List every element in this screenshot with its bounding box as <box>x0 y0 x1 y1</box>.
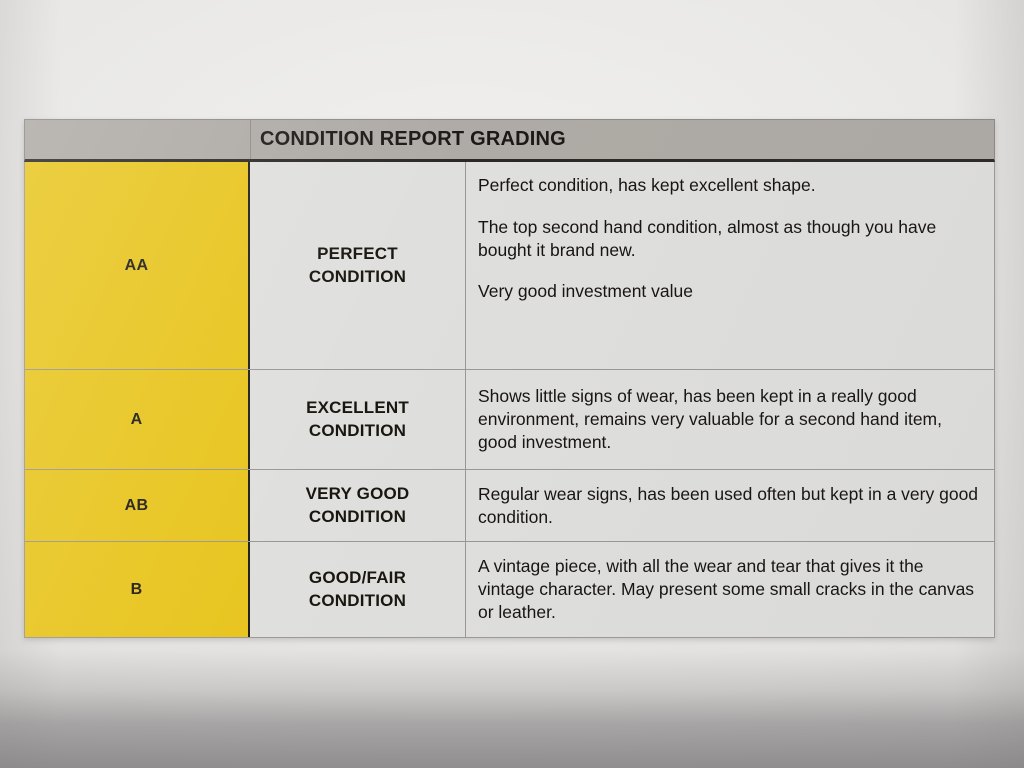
table-row: AB VERY GOOD CONDITION Regular wear sign… <box>25 470 994 542</box>
condition-report-grading-table: CONDITION REPORT GRADING AA PERFECT COND… <box>24 119 995 638</box>
table-row: A EXCELLENT CONDITION Shows little signs… <box>25 370 994 470</box>
page-title: CONDITION REPORT GRADING <box>260 128 566 151</box>
description-paragraph: The top second hand condition, almost as… <box>478 216 980 262</box>
table-row: B GOOD/FAIR CONDITION A vintage piece, w… <box>25 542 994 637</box>
grade-label-line-1: GOOD/FAIR <box>309 568 406 587</box>
description-paragraph: Very good investment value <box>478 280 980 303</box>
grade-code-b: B <box>25 542 250 637</box>
grade-label-line-2: CONDITION <box>309 591 406 610</box>
grade-code-aa: AA <box>25 162 250 369</box>
grade-label-b: GOOD/FAIR CONDITION <box>250 542 466 637</box>
grade-label-line-1: PERFECT <box>317 244 398 263</box>
grade-description-b: A vintage piece, with all the wear and t… <box>466 542 994 637</box>
grade-label-line-1: VERY GOOD <box>306 484 410 503</box>
description-paragraph: Perfect condition, has kept excellent sh… <box>478 174 980 197</box>
description-paragraph: A vintage piece, with all the wear and t… <box>478 555 980 623</box>
table-row: AA PERFECT CONDITION Perfect condition, … <box>25 162 994 370</box>
grade-description-a: Shows little signs of wear, has been kep… <box>466 370 994 469</box>
grade-label-aa: PERFECT CONDITION <box>250 162 466 369</box>
grade-label-ab: VERY GOOD CONDITION <box>250 470 466 541</box>
grade-label-line-2: CONDITION <box>309 507 406 526</box>
grade-code-ab: AB <box>25 470 250 541</box>
grade-label-a: EXCELLENT CONDITION <box>250 370 466 469</box>
grade-code-a: A <box>25 370 250 469</box>
grade-label-line-2: CONDITION <box>309 267 406 286</box>
description-paragraph: Shows little signs of wear, has been kep… <box>478 385 980 453</box>
grade-description-ab: Regular wear signs, has been used often … <box>466 470 994 541</box>
grade-label-line-1: EXCELLENT <box>306 398 409 417</box>
grade-label-line-2: CONDITION <box>309 421 406 440</box>
description-paragraph: Regular wear signs, has been used often … <box>478 483 980 529</box>
grade-description-aa: Perfect condition, has kept excellent sh… <box>466 162 994 369</box>
table-body: AA PERFECT CONDITION Perfect condition, … <box>24 162 995 638</box>
table-header-band: CONDITION REPORT GRADING <box>24 119 995 162</box>
